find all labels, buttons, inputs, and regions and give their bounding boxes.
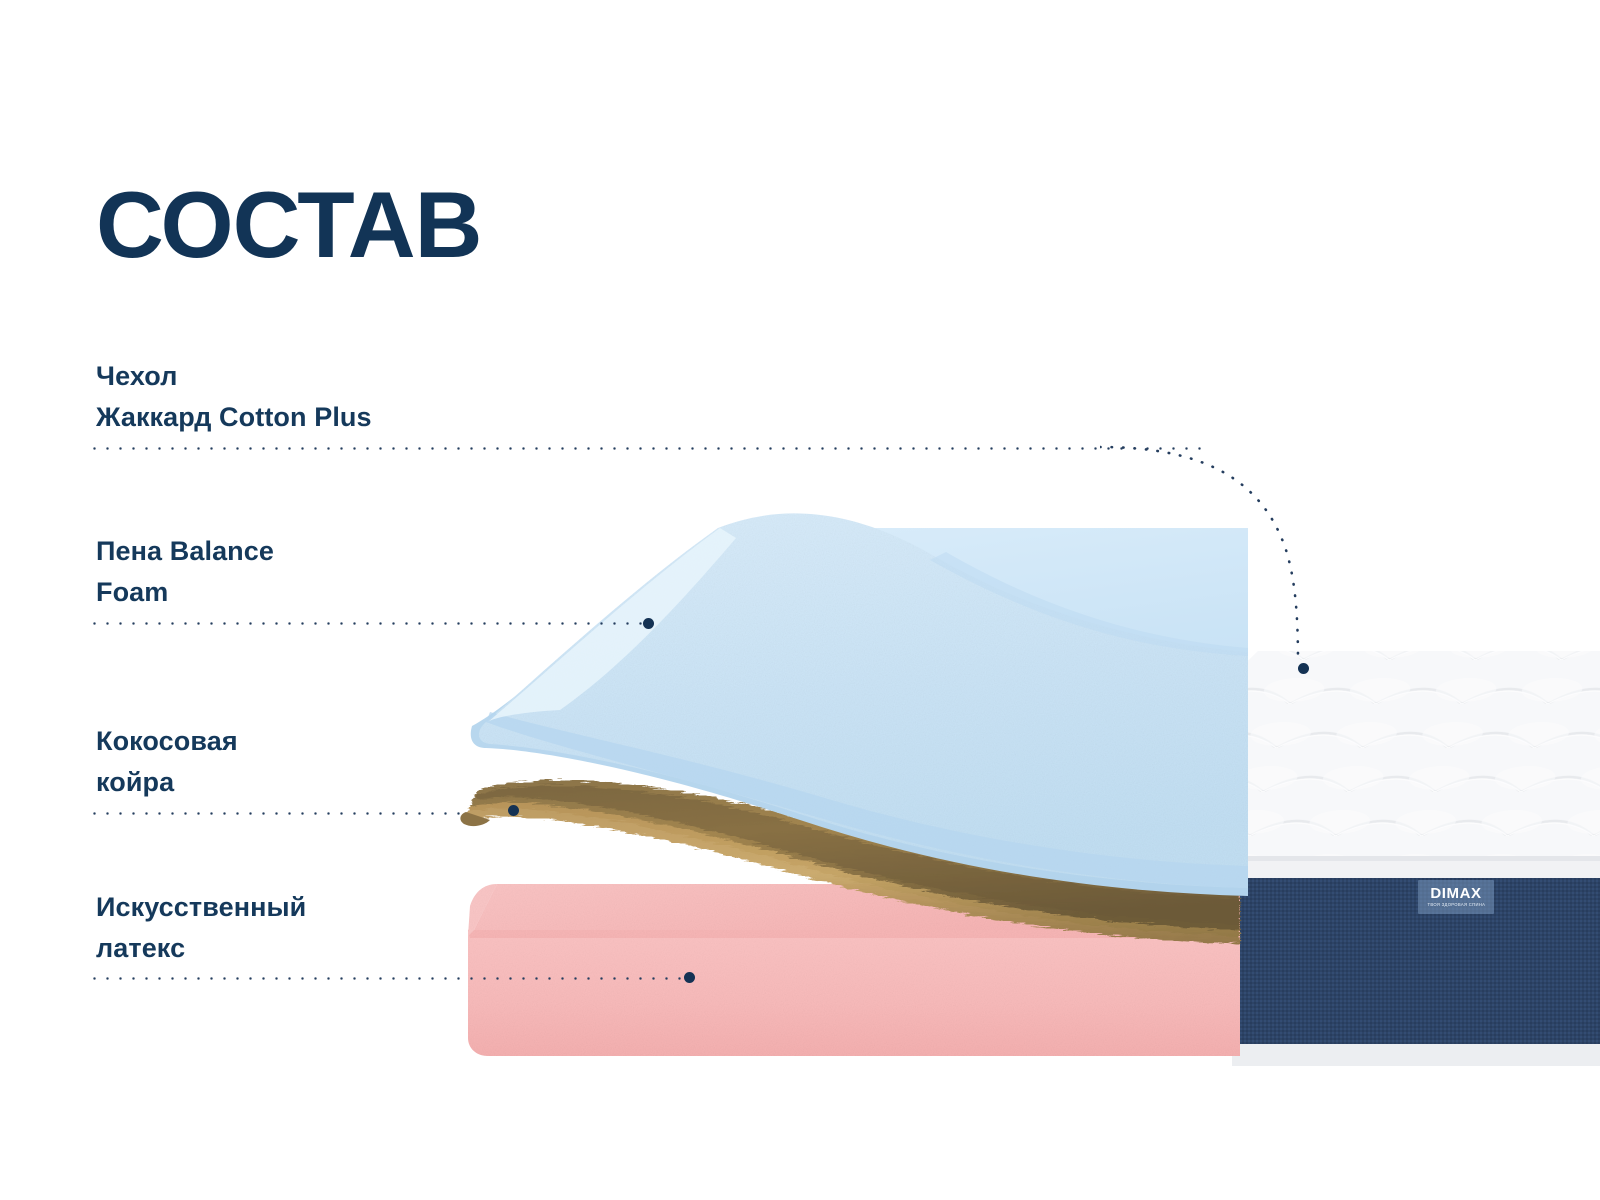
leader-line-latex: [88, 977, 696, 980]
leader-endpoint-dot-cover: [1298, 663, 1309, 674]
layer-label-latex: Искусственный латекс: [96, 887, 566, 968]
dimax-tagline: ТВОЯ ЗДОРОВАЯ СПИНА: [1427, 903, 1485, 907]
layer-label-coir: Кокосовая койра: [96, 721, 566, 802]
layer-label-coir-text: Кокосовая койра: [96, 721, 566, 802]
mattress-body: [1232, 651, 1600, 1066]
dimax-brand-tag: DIMAX ТВОЯ ЗДОРОВАЯ СПИНА: [1418, 880, 1494, 914]
layer-label-latex-text: Искусственный латекс: [96, 887, 566, 968]
layer-label-cover: Чехол Жаккард Cotton Plus: [96, 356, 566, 437]
leader-endpoint-dot-foam: [643, 618, 654, 629]
leader-line-foam: [88, 622, 648, 625]
leader-curve-cover: [1100, 420, 1360, 680]
leader-endpoint-dot-latex: [684, 972, 695, 983]
layer-coir: [460, 780, 1240, 944]
leader-line-cover: [88, 447, 1208, 450]
page-title: СОСТАВ: [96, 178, 481, 272]
leader-endpoint-dot-coir: [508, 805, 519, 816]
layer-label-foam: Пена Balance Foam: [96, 531, 566, 612]
layer-label-foam-text: Пена Balance Foam: [96, 531, 566, 612]
layer-foam: [471, 513, 1248, 896]
layer-label-cover-text: Чехол Жаккард Cotton Plus: [96, 356, 566, 437]
leader-line-coir: [88, 812, 470, 815]
dimax-brand-text: DIMAX: [1430, 886, 1481, 901]
layer-latex: [468, 884, 1240, 1056]
